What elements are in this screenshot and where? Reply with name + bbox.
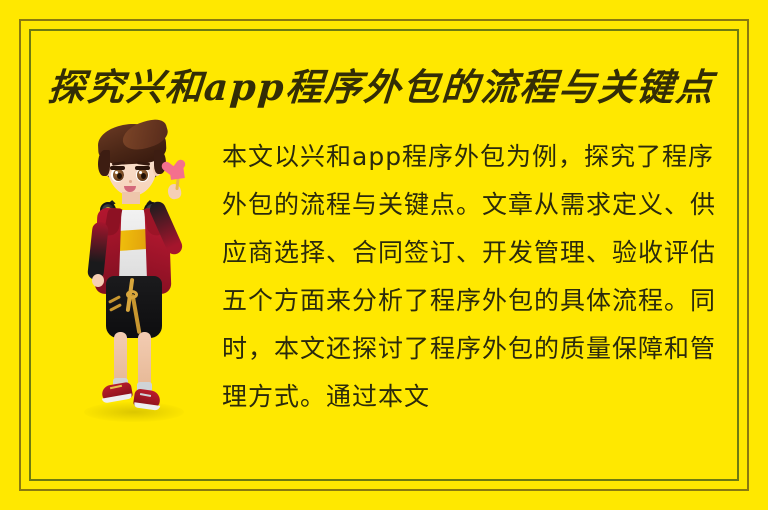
eye-left — [111, 168, 124, 182]
pupil-right — [141, 173, 146, 179]
eye-right — [136, 168, 149, 182]
hand-right — [167, 183, 183, 200]
leg-right — [138, 332, 151, 388]
leg-left — [114, 332, 127, 384]
hair-side-left — [98, 150, 110, 176]
eyelash-left — [110, 166, 125, 170]
drawstring-knot — [126, 290, 138, 299]
heart-icon — [169, 165, 185, 180]
pupil-left — [117, 173, 122, 179]
article-body-text: 本文以兴和app程序外包为例，探究了程序外包的流程与关键点。文章从需求定义、供应… — [222, 133, 740, 438]
nose — [129, 180, 132, 183]
hand-left — [92, 274, 104, 287]
iris-right — [137, 169, 148, 181]
eye-glint-right — [139, 171, 142, 174]
chibi-boy-character-illustration — [76, 126, 192, 426]
eyelash-right — [135, 166, 150, 170]
iris-left — [113, 169, 124, 181]
article-banner-card: 探究兴和app程序外包的流程与关键点 本文以兴和app程序外包为例，探究了程序外… — [0, 0, 768, 510]
page-title: 探究兴和app程序外包的流程与关键点 — [46, 60, 730, 114]
eye-glint-left — [115, 171, 118, 174]
